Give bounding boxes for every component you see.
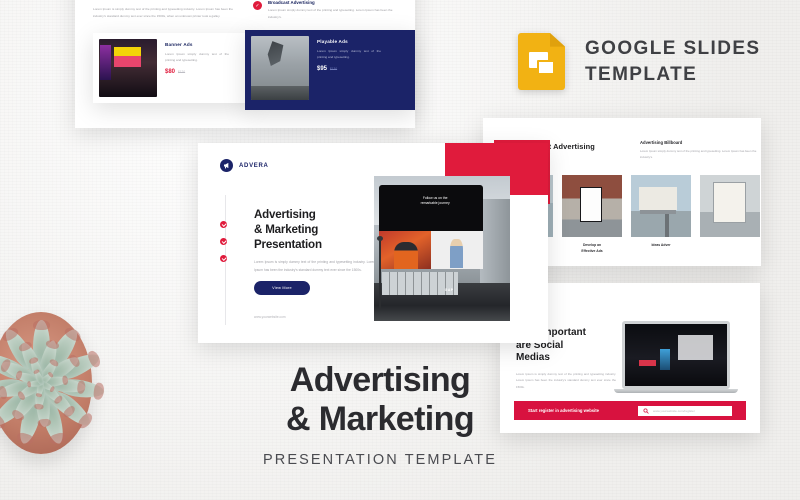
laptop-base (614, 389, 738, 393)
succulent-plant (0, 298, 114, 498)
playable-ads-old-price: $130 (330, 67, 337, 71)
megaphone-icon (220, 159, 233, 172)
card-playable-ads[interactable]: Playable Ads Lorem Ipsum simply dummy te… (245, 30, 415, 110)
advera-logo-text: ADVERA (239, 163, 269, 169)
promo-title-line-1: Advertising (290, 361, 470, 399)
hero-website: www.yourwebsite.com (254, 315, 286, 319)
broadcast-feature-text: Lorem Ipsum simply dummy text of the pri… (268, 7, 403, 21)
promo-main-title: Advertising & Marketing (178, 361, 582, 440)
banner-ads-text: Lorem Ipsum simply dummy text of the pri… (165, 51, 229, 64)
laptop-screen-image (622, 321, 730, 389)
google-slides-line-1: GOOGLE SLIDES (585, 38, 761, 59)
gap-store-sign: GAP (445, 288, 454, 292)
hero-title-1: Advertising (254, 208, 316, 221)
how-to-card-1-caption-1: Develop an (583, 243, 601, 247)
hero-title-3: Presentation (254, 238, 322, 251)
playable-ads-price: $95$130 (317, 66, 381, 72)
banner-ads-title: Banner Ads (165, 42, 229, 47)
playable-ads-text: Lorem Ipsum simply dummy text of the pri… (317, 48, 381, 61)
hero-paragraph: Lorem Ipsum is simply dummy text of the … (254, 259, 376, 274)
banner-ads-price: $80$120 (165, 69, 229, 75)
how-to-card-3[interactable] (700, 175, 760, 255)
broadcast-feature-title: Broadcast Advertising (268, 0, 403, 5)
laptop-mockup (622, 321, 730, 393)
register-url-placeholder: www.yourwebsite.com/register (653, 409, 695, 413)
view-more-button[interactable]: View More (254, 281, 310, 295)
how-to-card-1-caption-2: Effective Ads (581, 249, 602, 253)
google-slides-text: GOOGLE SLIDES TEMPLATE (585, 33, 761, 87)
how-to-card-2-image (631, 175, 691, 237)
slide-hero: ADVERA Advertising & Marketing Presentat… (198, 143, 548, 343)
playable-ads-image (251, 36, 309, 100)
promo-subtitle: PRESENTATION TEMPLATE (178, 452, 582, 468)
how-to-card-2[interactable]: Ideas Adver (631, 175, 691, 255)
check-circle-icon: ✓ (253, 1, 262, 10)
billboard-text: Follow us on the remarkable journey (404, 196, 467, 206)
slide-products: Lorem Ipsum is simply dummy text of the … (75, 0, 415, 128)
products-intro-paragraph: Lorem Ipsum is simply dummy text of the … (93, 6, 233, 20)
hero-bullet-dots[interactable] (220, 221, 227, 272)
hero-title-2: & Marketing (254, 223, 318, 236)
broadcast-feature: ✓ Broadcast Advertising Lorem Ipsum simp… (253, 0, 403, 21)
how-to-card-1-image (562, 175, 622, 237)
how-to-card-1[interactable]: Develop anEffective Ads (562, 175, 622, 255)
register-url-input[interactable]: www.yourwebsite.com/register (638, 406, 732, 416)
google-slides-badge: GOOGLE SLIDES TEMPLATE (518, 33, 761, 90)
banner-ads-old-price: $120 (178, 70, 185, 74)
card-banner-ads[interactable]: Banner Ads Lorem Ipsum simply dummy text… (93, 33, 253, 103)
google-slides-logo (518, 33, 565, 90)
advera-logo[interactable]: ADVERA (220, 159, 269, 172)
banner-ads-image (99, 39, 157, 97)
playable-ads-title: Playable Ads (317, 39, 381, 44)
hero-billboard-photo: Follow us on the remarkable journey GAP (374, 176, 510, 321)
promo-title-line-2: & Marketing (286, 400, 474, 438)
advertising-billboard-heading: Advertising Billboard (640, 140, 758, 145)
how-to-card-2-caption-1: Ideas Adver (651, 243, 670, 247)
advertising-billboard-text: Lorem Ipsum simply dummy text of the pri… (640, 148, 758, 160)
how-to-card-3-image (700, 175, 760, 237)
google-slides-line-2: TEMPLATE (585, 64, 697, 85)
hero-title: Advertising & Marketing Presentation (254, 207, 384, 252)
promo-title-block: Advertising & Marketing PRESENTATION TEM… (178, 361, 582, 468)
